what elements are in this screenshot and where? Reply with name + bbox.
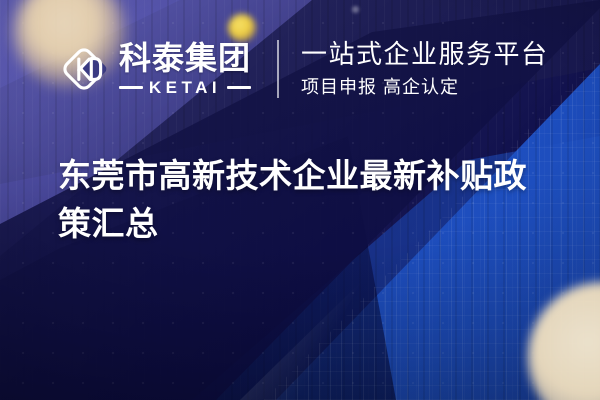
page-title: 东莞市高新技术企业最新补贴政策汇总 xyxy=(58,152,558,248)
wordmark-dash-right xyxy=(227,86,251,89)
brand-name-en: KETAI xyxy=(143,79,227,96)
ketai-diamond-k-logo-icon xyxy=(58,43,110,95)
brand-name-en-row: KETAI xyxy=(119,79,251,96)
banner-header: 科泰集团 KETAI 一站式企业服务平台 项目申报 高企认定 xyxy=(58,40,549,98)
brand-logo: 科泰集团 KETAI xyxy=(58,42,251,96)
brand-name-cn: 科泰集团 xyxy=(119,42,251,74)
vertical-divider xyxy=(277,40,279,98)
brand-wordmark: 科泰集团 KETAI xyxy=(119,42,251,96)
promo-banner: 科泰集团 KETAI 一站式企业服务平台 项目申报 高企认定 东莞市高新技术企业… xyxy=(0,0,600,400)
gold-bokeh-dot-icon xyxy=(228,14,256,42)
tagline-main: 一站式企业服务平台 xyxy=(301,40,549,70)
tagline-block: 一站式企业服务平台 项目申报 高企认定 xyxy=(301,40,549,98)
tiny-sparkle-icon xyxy=(352,6,359,13)
tagline-sub: 项目申报 高企认定 xyxy=(301,77,549,98)
wordmark-dash-left xyxy=(119,86,143,89)
